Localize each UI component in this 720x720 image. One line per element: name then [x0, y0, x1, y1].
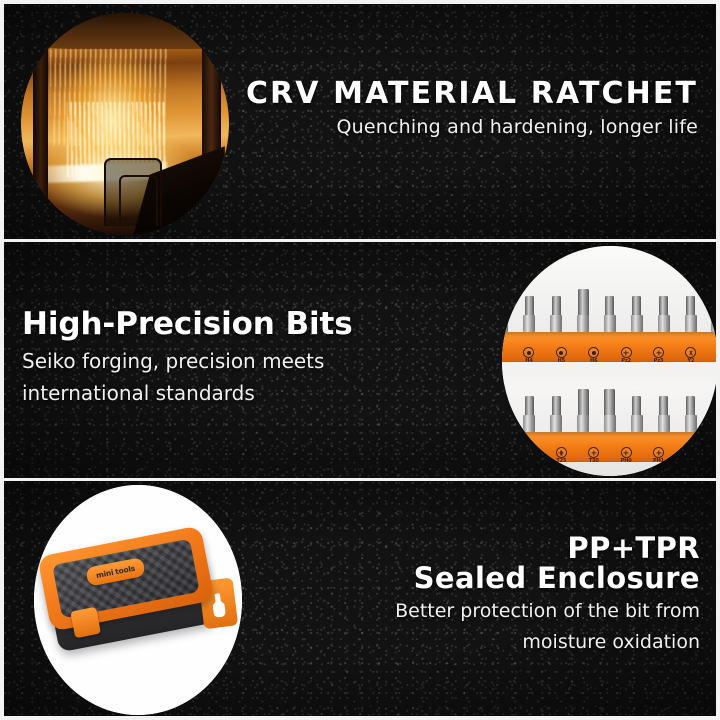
product-feature-poster: CRV MATERIAL RATCHET Quenching and harde…: [0, 0, 720, 720]
forge-press-block: [21, 13, 229, 49]
bit-label: T25: [556, 459, 566, 464]
panel-3-text-block: PP+TPR Sealed Enclosure Better protectio…: [240, 533, 700, 654]
pozidriv-bit-icon: [653, 347, 664, 358]
bit-row-upper: [502, 286, 716, 332]
bit-label: T30: [589, 459, 599, 464]
brand-name-part-1: mini: [95, 568, 114, 579]
brand-name-part-2: tools: [115, 564, 136, 575]
hex-bit-icon: [523, 347, 534, 358]
torx-bit-icon: [588, 447, 599, 458]
hex-bit-icon: [588, 347, 599, 358]
bit-label: Pz3: [654, 359, 664, 364]
panel-crv-material-ratchet: CRV MATERIAL RATCHET Quenching and harde…: [4, 4, 716, 239]
bit-label: PH2: [685, 459, 696, 464]
furnace-pillar-left: [33, 40, 48, 204]
panel-2-headline: High-Precision Bits: [22, 308, 442, 340]
pozidriv-bit-icon: [621, 347, 632, 358]
bit-label: H5: [558, 359, 565, 364]
torx-bit-icon: [523, 447, 534, 458]
bit-label-row-upper: H3 H4 H5 H6 Pz2 Pz3 Y2 Y3: [502, 347, 716, 364]
bit-label: Y2: [687, 359, 694, 364]
bit-label-row-lower: T10 T15 T25 T30 PH0 PH1 PH2 3.0: [502, 447, 716, 464]
forge-quenching-photo: [21, 13, 229, 235]
bit-label: H6: [590, 359, 597, 364]
tool-case-photo: mini tools: [34, 485, 242, 715]
phillips-bit-icon: [653, 447, 664, 458]
bit-label: PH1: [653, 459, 664, 464]
panel-1-headline: CRV MATERIAL RATCHET: [218, 78, 698, 109]
bit-label: PH0: [621, 459, 632, 464]
bit-label: Pz2: [621, 359, 631, 364]
panel-3-subline-line-1: Better protection of the bit from: [240, 600, 700, 624]
panel-high-precision-bits: H3 H4 H5 H6 Pz2 Pz3 Y2 Y3: [4, 239, 716, 477]
panel-2-text-block: High-Precision Bits Seiko forging, preci…: [22, 308, 442, 406]
torx-bit-icon: [556, 447, 567, 458]
panel-3-headline-line-2: Sealed Enclosure: [240, 563, 700, 593]
phillips-bit-icon: [685, 447, 696, 458]
panel-1-subline: Quenching and hardening, longer life: [218, 116, 698, 140]
screwdriver-bits-photo: H3 H4 H5 H6 Pz2 Pz3 Y2 Y3: [502, 246, 716, 476]
bit-label: T15: [524, 459, 534, 464]
furnace-rail-inner: [119, 175, 158, 226]
phillips-bit-icon: [621, 447, 632, 458]
panel-3-headline-line-1: PP+TPR: [240, 533, 700, 563]
case-latch: [70, 606, 101, 637]
panel-2-subline-line-1: Seiko forging, precision meets: [22, 349, 442, 374]
panel-2-subline-line-2: international standards: [22, 381, 442, 406]
panel-3-subline-line-2: moisture oxidation: [240, 631, 700, 655]
panel-1-text-block: CRV MATERIAL RATCHET Quenching and harde…: [218, 78, 698, 140]
hex-bit-icon: [556, 347, 567, 358]
bit-label: H4: [525, 359, 532, 364]
tri-wing-bit-icon: [685, 347, 696, 358]
panel-pp-tpr-sealed-enclosure: mini tools PP+TPR Sealed Enclosure Bette…: [4, 478, 716, 716]
bit-row-lower: [502, 386, 716, 432]
